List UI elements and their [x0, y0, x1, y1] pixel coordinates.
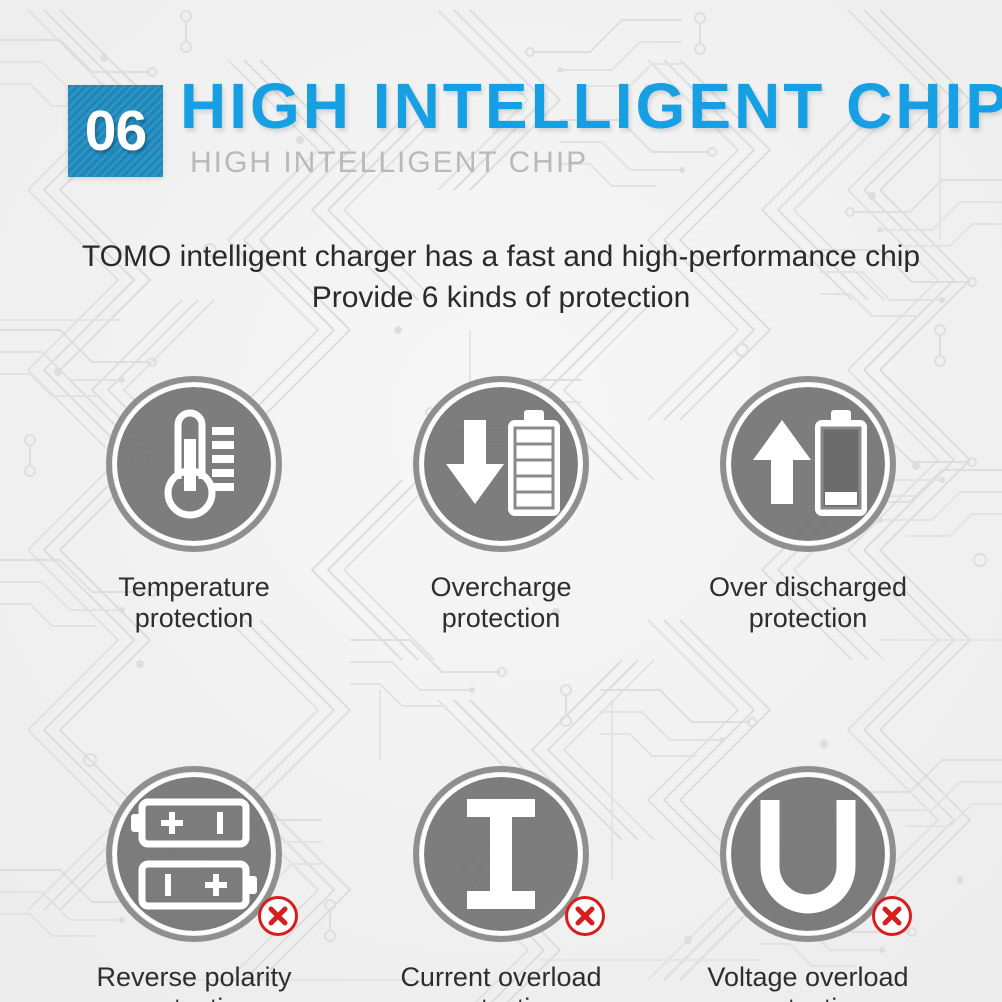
- label-line-2: protection: [707, 993, 908, 1002]
- label-line-2: protection: [709, 603, 907, 634]
- protection-item-over-discharged: Over discharged protection: [658, 376, 958, 634]
- prohibited-x-badge: [872, 896, 912, 936]
- page-subtitle: HIGH INTELLIGENT CHIP: [190, 146, 588, 180]
- medallion: [413, 376, 589, 552]
- protection-label: Over discharged protection: [709, 572, 907, 634]
- protection-item-reverse-polarity: Reverse polarity protection: [44, 766, 344, 1002]
- label-line-1: Over discharged: [709, 572, 907, 603]
- label-line-1: Temperature: [118, 572, 270, 603]
- medallion: [720, 766, 896, 942]
- label-line-2: protection: [430, 603, 571, 634]
- letter-u-voltage-icon: [731, 777, 885, 931]
- thermometer-icon: [117, 387, 271, 541]
- protection-label: Current overload protection: [400, 962, 601, 1002]
- label-line-1: Reverse polarity: [96, 962, 291, 993]
- label-line-1: Voltage overload: [707, 962, 908, 993]
- label-line-2: protection: [400, 993, 601, 1002]
- label-line-2: protection: [118, 603, 270, 634]
- up-arrow-empty-battery-icon: [731, 387, 885, 541]
- down-arrow-full-battery-icon: [424, 387, 578, 541]
- medallion: [106, 766, 282, 942]
- intro-line-2: Provide 6 kinds of protection: [0, 277, 1002, 318]
- label-line-2: protection: [96, 993, 291, 1002]
- medallion: [106, 376, 282, 552]
- prohibited-x-badge: [258, 896, 298, 936]
- intro-line-1: TOMO intelligent charger has a fast and …: [0, 236, 1002, 277]
- protection-label: Voltage overload protection: [707, 962, 908, 1002]
- protection-label: Reverse polarity protection: [96, 962, 291, 1002]
- page-title: HIGH INTELLIGENT CHIP: [180, 74, 1002, 138]
- section-number-badge: 06: [68, 85, 163, 177]
- medallion: [413, 766, 589, 942]
- label-line-1: Current overload: [400, 962, 601, 993]
- prohibited-x-badge: [565, 896, 605, 936]
- letter-i-current-icon: [424, 777, 578, 931]
- infographic-page: 06 HIGH INTELLIGENT CHIP HIGH INTELLIGEN…: [0, 0, 1002, 1002]
- page-header: 06 HIGH INTELLIGENT CHIP HIGH INTELLIGEN…: [0, 0, 1002, 200]
- protection-item-voltage-overload: Voltage overload protection: [658, 766, 958, 1002]
- protection-label: Temperature protection: [118, 572, 270, 634]
- protection-grid: Temperature protection: [44, 376, 958, 1002]
- protection-row-2: Reverse polarity protection: [44, 766, 958, 1002]
- protection-label: Overcharge protection: [430, 572, 571, 634]
- protection-row-1: Temperature protection: [44, 376, 958, 634]
- section-number: 06: [68, 85, 163, 177]
- medallion: [720, 376, 896, 552]
- protection-item-overcharge: Overcharge protection: [351, 376, 651, 634]
- label-line-1: Overcharge: [430, 572, 571, 603]
- protection-item-current-overload: Current overload protection: [351, 766, 651, 1002]
- reverse-polarity-batteries-icon: [117, 777, 271, 931]
- protection-item-temperature: Temperature protection: [44, 376, 344, 634]
- intro-paragraph: TOMO intelligent charger has a fast and …: [0, 236, 1002, 318]
